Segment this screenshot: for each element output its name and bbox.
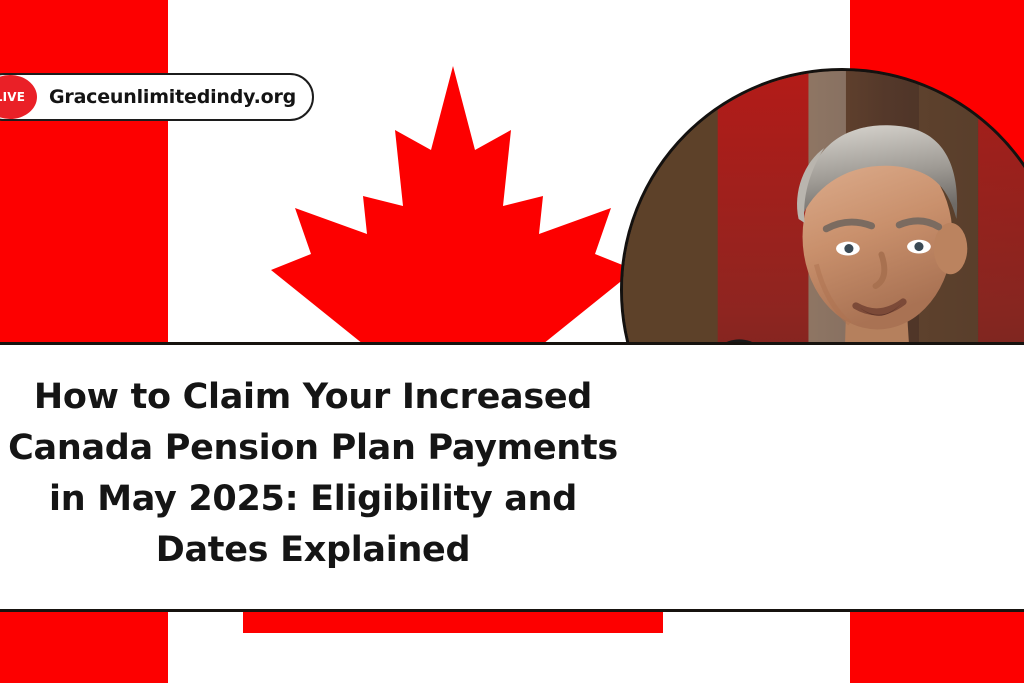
live-indicator: LIVE [0, 75, 37, 119]
site-badge[interactable]: LIVE Graceunlimitedindy.org [0, 73, 314, 121]
divider-bottom [0, 609, 1024, 612]
thumbnail-canvas: How to Claim Your Increased Canada Pensi… [0, 0, 1024, 683]
page-title: How to Claim Your Increased Canada Pensi… [0, 372, 638, 576]
site-url-label: Graceunlimitedindy.org [49, 86, 296, 108]
